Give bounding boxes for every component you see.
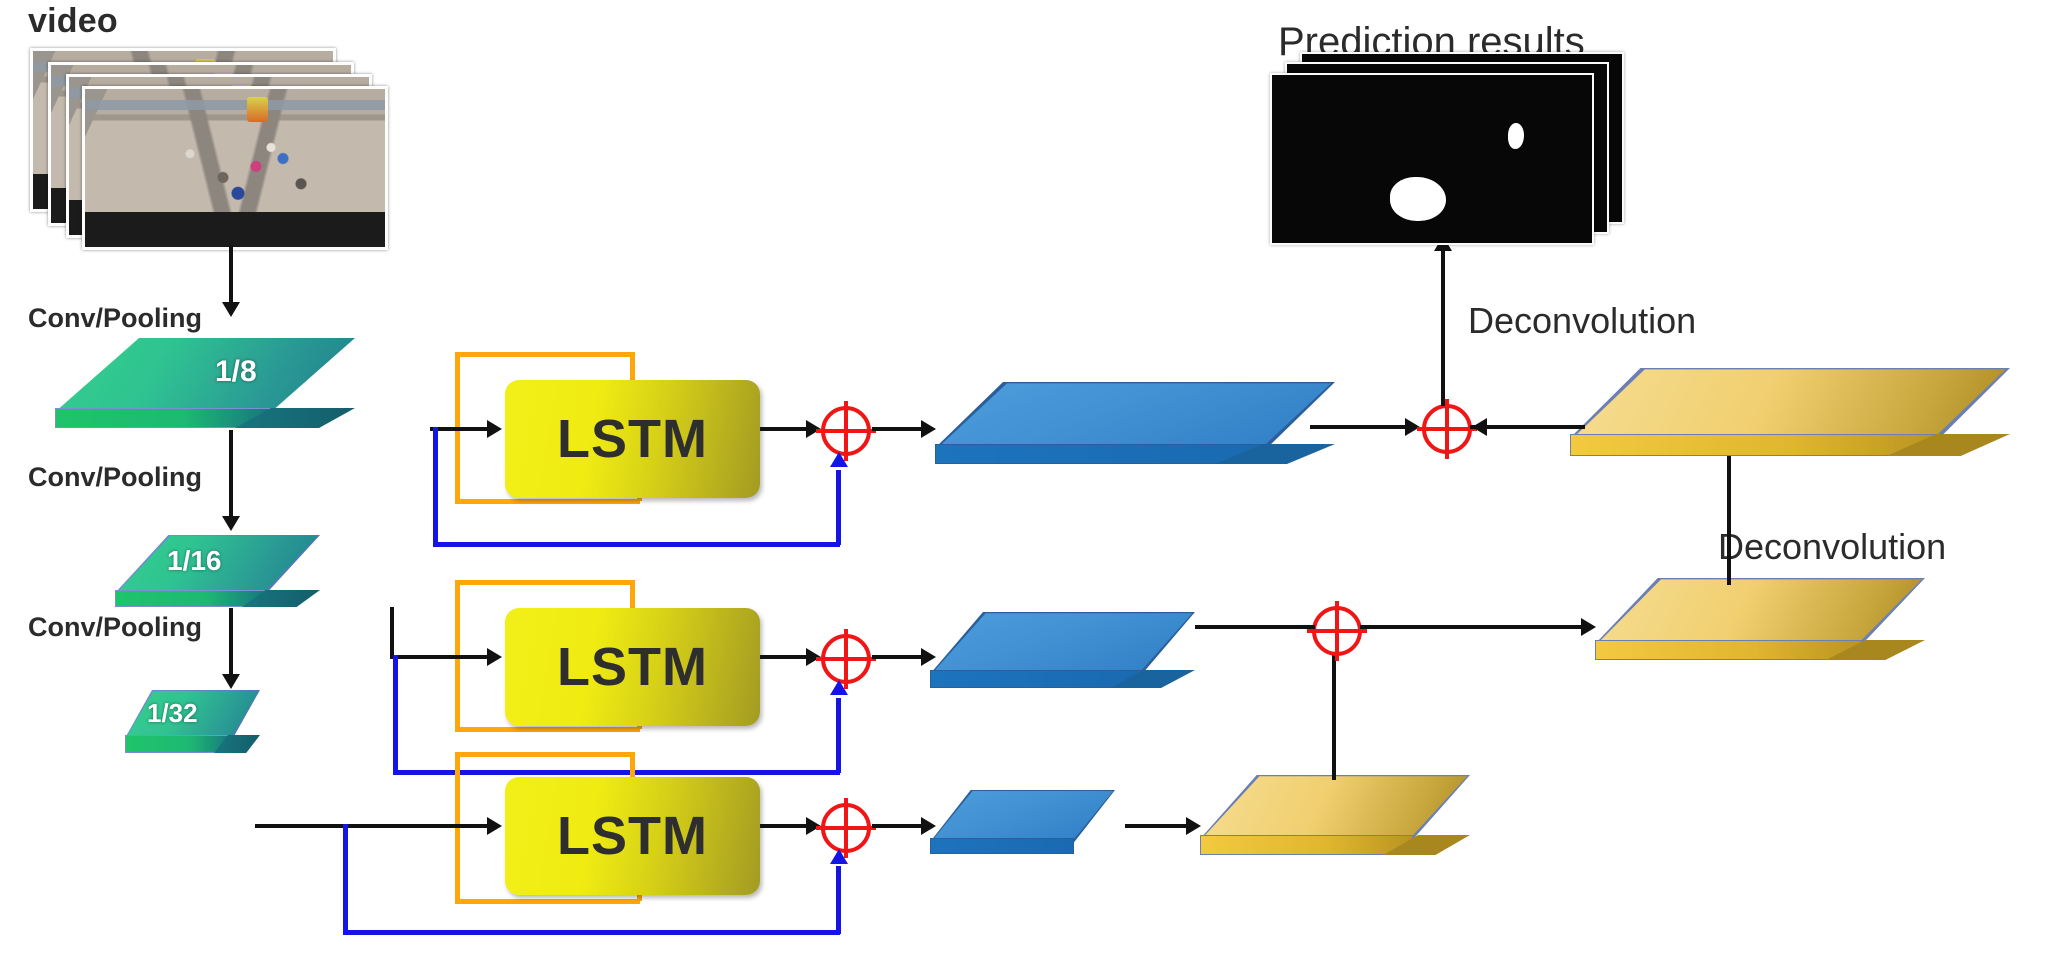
fusion-merge-node-1 <box>1422 404 1472 454</box>
row1-to-bluemap-arrow <box>921 420 936 438</box>
lstm-block-2[interactable]: LSTM <box>505 608 760 726</box>
gold-map-1 <box>1570 368 2010 460</box>
merge-node-row-2 <box>821 634 871 684</box>
gold-map-3-front <box>1200 835 1413 855</box>
bluemap3-to-gold3-line <box>1125 824 1195 828</box>
conv-arrow-head-1 <box>222 302 240 317</box>
lstm-input-arrow-2 <box>487 648 502 666</box>
lstm-block-3-label: LSTM <box>557 805 708 867</box>
fusion1-up-line <box>1441 244 1445 406</box>
conv-arrow-line-1 <box>229 246 233 304</box>
conv-arrow-head-2 <box>222 516 240 531</box>
lstm-block-3[interactable]: LSTM <box>505 777 760 895</box>
video-frame-1 <box>82 86 388 250</box>
residual-up-2 <box>836 698 841 773</box>
architecture-diagram: video Conv/Pooling 1/8 Conv/Pooling <box>0 0 2059 959</box>
lstm-state-loop-top-2 <box>455 580 635 585</box>
lstm-block-1[interactable]: LSTM <box>505 380 760 498</box>
gold-map-1-top <box>1570 368 2010 438</box>
blue-map-2-top <box>930 612 1195 674</box>
feature-map-1-32-label: 1/32 <box>147 698 198 729</box>
gold-map-1-front <box>1570 434 1940 456</box>
feature-map-1-32: 1/32 <box>125 690 260 756</box>
deconvolution-label-1: Deconvolution <box>1468 300 1696 342</box>
lstm-block-1-label: LSTM <box>557 408 708 470</box>
lstm-state-loop-bottom-1 <box>455 499 640 504</box>
residual-arrow-2 <box>830 680 848 695</box>
feature-map-1-16-front <box>115 590 267 607</box>
prediction-mask-1 <box>1270 73 1594 245</box>
lstm-block-2-label: LSTM <box>557 636 708 698</box>
lstm-input-line-2 <box>390 655 490 659</box>
fusion2-to-gold2-arrow <box>1581 618 1596 636</box>
lstm-state-loop-top-1 <box>455 352 635 357</box>
bluemap2-to-fusion2-line <box>1195 625 1315 629</box>
gold-map-2-front <box>1595 640 1862 660</box>
feature-map-1-8-label: 1/8 <box>215 355 257 389</box>
residual-bottom-2 <box>393 770 840 775</box>
conv-pooling-label-3: Conv/Pooling <box>28 612 202 643</box>
blue-map-2 <box>930 612 1195 692</box>
bluemap1-to-fusion1-line <box>1310 425 1415 429</box>
lstm-state-loop-bottom-3 <box>455 899 640 904</box>
blue-map-1 <box>935 382 1335 468</box>
blue-map-3-top <box>930 790 1115 842</box>
gold3-up-line <box>1332 640 1336 780</box>
goldmap1-to-fusion1-line <box>1470 425 1585 429</box>
lstm-state-loop-left-3 <box>455 752 460 904</box>
merge-node-row-3 <box>821 803 871 853</box>
residual-left-2 <box>393 655 398 775</box>
feature-map-1-8: 1/8 <box>55 338 355 428</box>
video-thumbnail-1 <box>85 89 385 247</box>
blue-map-2-front <box>930 670 1142 688</box>
gold-map-2-top <box>1595 578 1925 644</box>
goldmap1-to-fusion1-arrow <box>1472 418 1487 436</box>
gold-map-3-top <box>1200 775 1470 839</box>
feature-map-1-16-label: 1/16 <box>167 545 222 577</box>
lstm-state-loop-top-3 <box>455 752 635 757</box>
feature-map-1-8-top <box>55 338 355 412</box>
fusion-merge-node-2 <box>1312 606 1362 656</box>
deconvolution-label-2: Deconvolution <box>1718 526 1946 568</box>
lstm-input-line-1 <box>430 427 490 431</box>
fusion2-to-gold2-line <box>1360 625 1590 629</box>
conv-arrow-line-3 <box>229 608 233 676</box>
lstm-input-line-3 <box>255 824 490 828</box>
residual-bottom-3 <box>343 930 840 935</box>
blue-map-3 <box>930 790 1115 858</box>
prediction-blob-large <box>1390 177 1446 221</box>
merge-node-row-1 <box>821 406 871 456</box>
residual-left-3 <box>343 824 348 934</box>
gold-map-3 <box>1200 775 1470 859</box>
feature-map-1-16: 1/16 <box>115 535 320 607</box>
prediction-blob-small <box>1508 123 1524 149</box>
conv-arrow-line-2 <box>229 430 233 518</box>
video-planter-1 <box>247 97 268 122</box>
blue-map-3-front <box>930 838 1074 854</box>
video-walkway-1 <box>85 100 385 109</box>
lstm-state-loop-bottom-2 <box>455 727 640 732</box>
conv-arrow-head-3 <box>222 674 240 689</box>
conv-pooling-label-2: Conv/Pooling <box>28 462 202 493</box>
residual-up-3 <box>836 866 841 934</box>
lstm-input-arrow-3 <box>487 817 502 835</box>
bluemap3-to-gold3-arrow <box>1186 817 1201 835</box>
gold-map-2 <box>1595 578 1925 664</box>
residual-arrow-3 <box>830 849 848 864</box>
lstm-input-arrow-1 <box>487 420 502 438</box>
video-caption: video <box>28 2 118 41</box>
residual-arrow-1 <box>830 452 848 467</box>
residual-left-1 <box>433 427 438 547</box>
feature-map-1-8-front <box>55 408 271 428</box>
featmap-2-down-line <box>390 607 394 657</box>
blue-map-1-front <box>935 444 1267 464</box>
residual-up-1 <box>836 470 841 545</box>
conv-pooling-label-1: Conv/Pooling <box>28 303 202 334</box>
residual-bottom-1 <box>433 542 840 547</box>
